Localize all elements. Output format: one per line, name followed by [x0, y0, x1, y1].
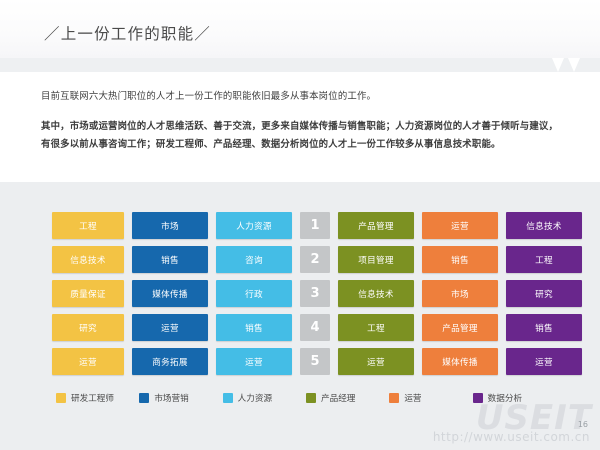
chip-operations-4[interactable]: 产品管理 — [422, 314, 498, 341]
chip-marketing-4[interactable]: 运营 — [132, 314, 208, 341]
chip-operations-5[interactable]: 媒体传播 — [422, 348, 498, 375]
chip-engineer-2[interactable]: 信息技术 — [52, 246, 124, 273]
legend-item-hr[interactable]: 人力资源 — [223, 392, 306, 404]
chip-hr-3[interactable]: 行政 — [216, 280, 292, 307]
rank-badge-1: 1 — [300, 212, 330, 239]
rank-badge-4: 4 — [300, 314, 330, 341]
chip-marketing-3[interactable]: 媒体传播 — [132, 280, 208, 307]
legend-label-engineer: 研发工程师 — [71, 392, 114, 404]
slide-root: ／上一份工作的职能／ 目前互联网六大热门职位的人才上一份工作的职能依旧最多从事本… — [0, 0, 600, 450]
chip-product-2[interactable]: 项目管理 — [338, 246, 414, 273]
chip-product-3[interactable]: 信息技术 — [338, 280, 414, 307]
legend-swatch-icon-hr — [223, 393, 233, 403]
legend-item-operations[interactable]: 运营 — [389, 392, 472, 404]
legend-swatch-icon-analytics — [473, 393, 483, 403]
chip-hr-2[interactable]: 咨询 — [216, 246, 292, 273]
legend-label-operations: 运营 — [404, 392, 421, 404]
chip-analytics-1[interactable]: 信息技术 — [506, 212, 582, 239]
chart-panel: 工程 市场 人力资源 1 产品管理 运营 信息技术 信息技术 销售 咨询 2 项… — [0, 182, 600, 450]
chip-analytics-4[interactable]: 销售 — [506, 314, 582, 341]
chip-engineer-3[interactable]: 质量保证 — [52, 280, 124, 307]
header-divider — [0, 58, 600, 72]
chip-marketing-1[interactable]: 市场 — [132, 212, 208, 239]
chart-legend: 研发工程师 市场营销 人力资源 产品经理 运营 — [56, 392, 556, 404]
legend-label-product: 产品经理 — [321, 392, 355, 404]
chip-engineer-5[interactable]: 运营 — [52, 348, 124, 375]
legend-label-hr: 人力资源 — [238, 392, 272, 404]
legend-swatch-icon-engineer — [56, 393, 66, 403]
page-title: ／上一份工作的职能／ — [44, 22, 211, 44]
chip-operations-1[interactable]: 运营 — [422, 212, 498, 239]
chip-engineer-1[interactable]: 工程 — [52, 212, 124, 239]
chip-product-5[interactable]: 运营 — [338, 348, 414, 375]
chart-panel-inner: 工程 市场 人力资源 1 产品管理 运营 信息技术 信息技术 销售 咨询 2 项… — [0, 182, 600, 450]
chip-analytics-2[interactable]: 工程 — [506, 246, 582, 273]
legend-item-engineer[interactable]: 研发工程师 — [56, 392, 139, 404]
chip-product-4[interactable]: 工程 — [338, 314, 414, 341]
chip-hr-5[interactable]: 运营 — [216, 348, 292, 375]
chip-marketing-5[interactable]: 商务拓展 — [132, 348, 208, 375]
legend-item-analytics[interactable]: 数据分析 — [473, 392, 556, 404]
chip-product-1[interactable]: 产品管理 — [338, 212, 414, 239]
legend-label-analytics: 数据分析 — [488, 392, 522, 404]
chip-marketing-2[interactable]: 销售 — [132, 246, 208, 273]
page-number: 16 — [578, 420, 588, 429]
rank-badge-3: 3 — [300, 280, 330, 307]
legend-swatch-icon-marketing — [139, 393, 149, 403]
legend-swatch-icon-product — [306, 393, 316, 403]
chip-operations-2[interactable]: 销售 — [422, 246, 498, 273]
rank-badge-5: 5 — [300, 348, 330, 375]
chip-operations-3[interactable]: 市场 — [422, 280, 498, 307]
chip-hr-1[interactable]: 人力资源 — [216, 212, 292, 239]
legend-swatch-icon-operations — [389, 393, 399, 403]
chip-analytics-3[interactable]: 研究 — [506, 280, 582, 307]
body-paragraph-1: 目前互联网六大热门职位的人才上一份工作的职能依旧最多从事本岗位的工作。 — [41, 88, 561, 106]
legend-item-marketing[interactable]: 市场营销 — [139, 392, 222, 404]
legend-item-product[interactable]: 产品经理 — [306, 392, 389, 404]
rank-badge-2: 2 — [300, 246, 330, 273]
ranking-grid: 工程 市场 人力资源 1 产品管理 运营 信息技术 信息技术 销售 咨询 2 项… — [52, 212, 552, 375]
legend-label-marketing: 市场营销 — [154, 392, 188, 404]
chip-hr-4[interactable]: 销售 — [216, 314, 292, 341]
chip-engineer-4[interactable]: 研究 — [52, 314, 124, 341]
chip-analytics-5[interactable]: 运营 — [506, 348, 582, 375]
body-paragraph-2: 其中，市场或运营岗位的人才思维活跃、善于交流，更多来自媒体传播与销售职能；人力资… — [41, 118, 561, 154]
